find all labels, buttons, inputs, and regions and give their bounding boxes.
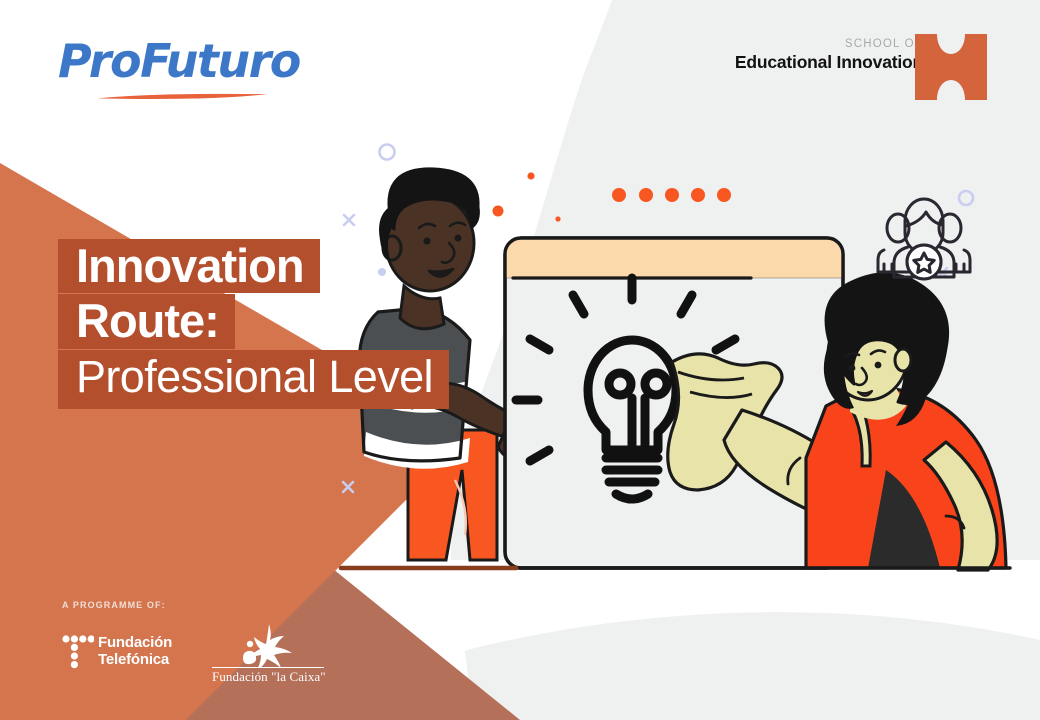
fundacion-la-caixa-logo: Fundación "la Caixa" — [212, 630, 324, 686]
lacaixa-divider — [212, 667, 324, 668]
school-logo-name: Educational Innovation — [735, 51, 923, 73]
team-star-badge-icon — [878, 199, 970, 279]
profuturo-logo: ProFuturo — [58, 38, 288, 108]
lacaixa-wordmark: Fundación "la Caixa" — [212, 669, 324, 685]
title-line-1: Innovation — [58, 239, 320, 293]
profuturo-wordmark: ProFuturo — [58, 38, 288, 84]
sponsor-logo-row: Fundación Telefónica Fundación "la Caixa… — [62, 630, 324, 686]
page-title: Innovation Route: Professional Level — [58, 239, 528, 409]
orange-dot-row — [612, 188, 731, 202]
school-logo-text: SCHOOL OF Educational Innovation — [735, 37, 923, 73]
programme-label: A PROGRAMME OF: — [62, 600, 322, 610]
telefonica-dots-t-icon — [62, 635, 94, 671]
title-line-3: Professional Level — [58, 350, 449, 409]
lacaixa-star-icon — [236, 624, 296, 668]
telefonica-line-1: Fundación — [98, 634, 172, 651]
telefonica-line-2: Telefónica — [98, 651, 172, 668]
telefonica-wordmark: Fundación Telefónica — [98, 634, 172, 668]
orange-x-mark-icon — [915, 34, 987, 100]
title-line-2: Route: — [58, 294, 235, 348]
poster-canvas: ProFuturo SCHOOL OF Educational Innovati… — [0, 0, 1040, 720]
school-of-educational-innovation-logo: SCHOOL OF Educational Innovation — [742, 37, 987, 101]
sponsors-footer: A PROGRAMME OF: Fundación T — [62, 600, 322, 695]
school-logo-eyebrow: SCHOOL OF — [735, 37, 923, 51]
orange-swoosh-underline — [96, 92, 268, 100]
fundacion-telefonica-logo: Fundación Telefónica — [62, 630, 180, 676]
